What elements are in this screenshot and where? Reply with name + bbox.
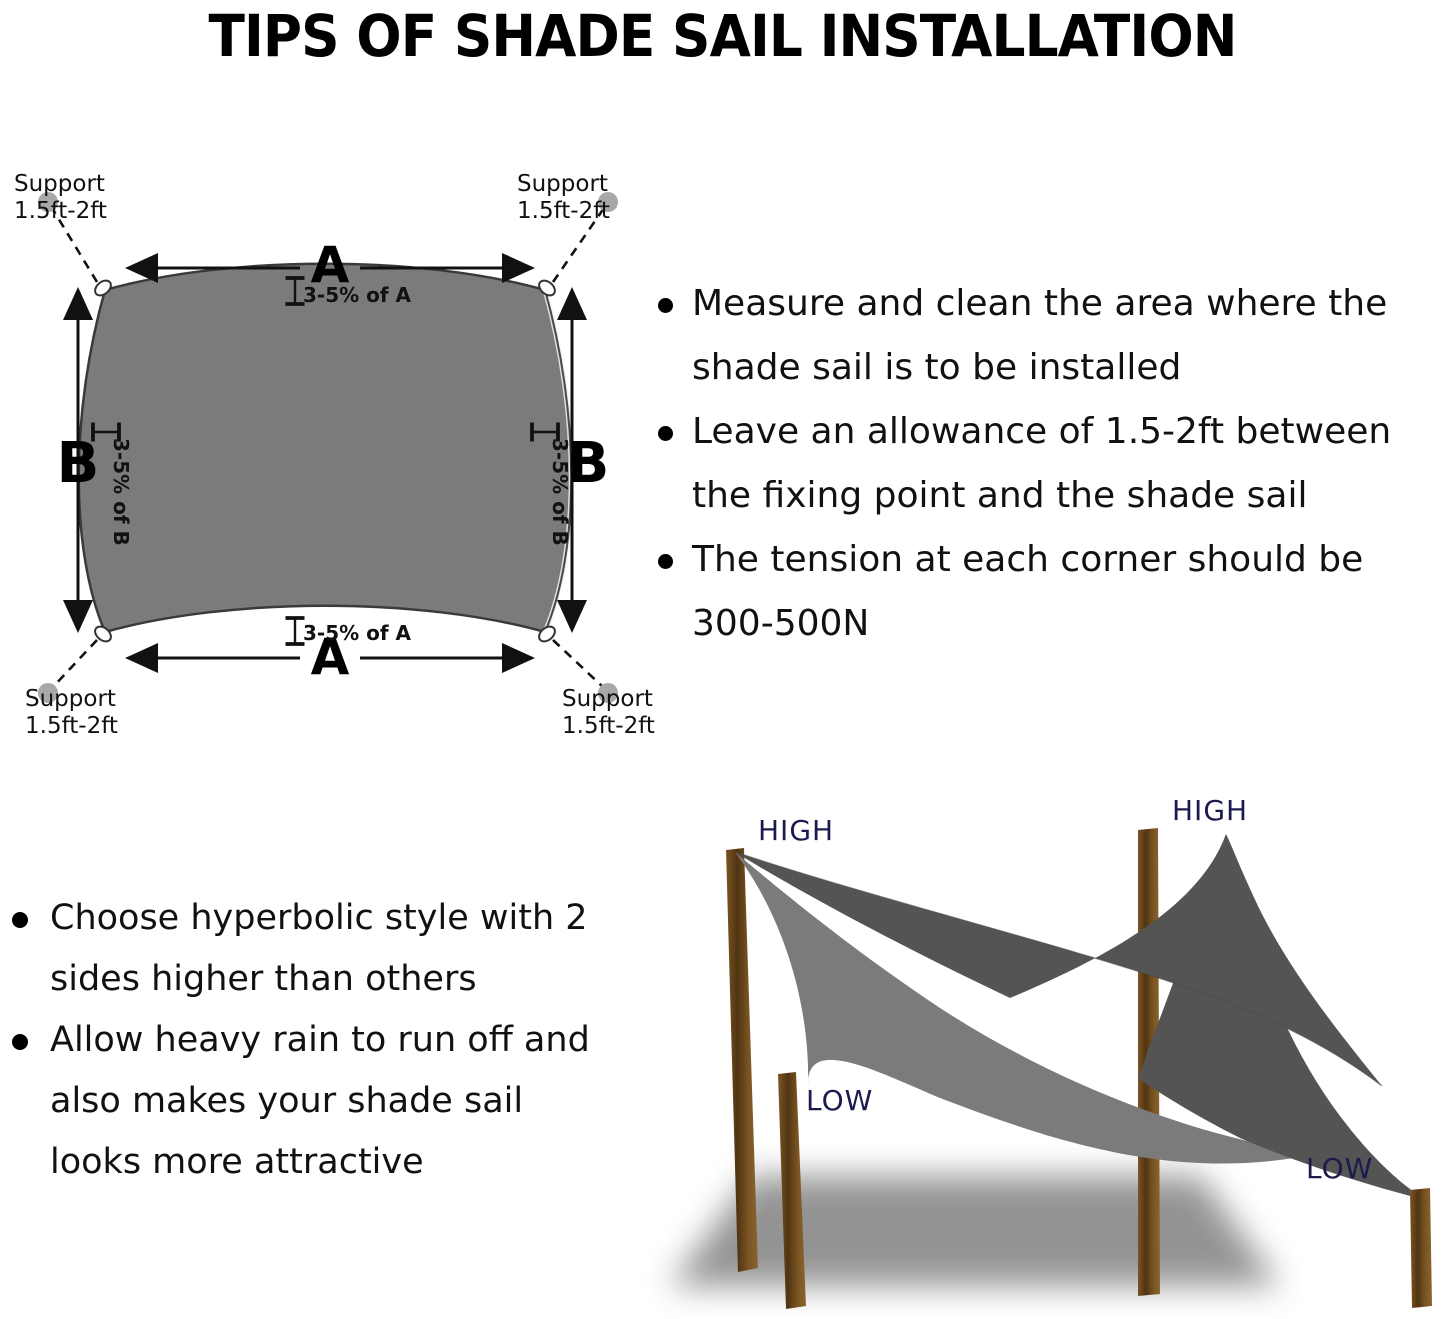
svg-text:3-5% of B: 3-5% of B — [548, 438, 572, 546]
post-front-right — [1410, 1188, 1432, 1308]
hyperbolic-sail-illustration: HIGH HIGH LOW LOW — [640, 786, 1445, 1319]
dimension-b-right: B — [567, 290, 610, 630]
svg-text:3-5% of A: 3-5% of A — [303, 283, 412, 307]
tips-list-left: Choose hyperbolic style with 2 sides hig… — [4, 888, 624, 1193]
svg-text:Support: Support — [562, 686, 653, 712]
support-label-bottom-left: Support 1.5ft-2ft — [25, 686, 118, 739]
sail-shape — [79, 264, 572, 632]
svg-text:Support: Support — [25, 686, 116, 712]
support-label-top-right: Support 1.5ft-2ft — [517, 171, 610, 224]
label-high-left: HIGH — [758, 814, 834, 847]
bullet-icon — [658, 298, 673, 313]
svg-text:B: B — [57, 431, 100, 496]
svg-text:Support: Support — [14, 171, 105, 197]
tip-item: Leave an allowance of 1.5-2ft between th… — [648, 400, 1445, 528]
label-high-right: HIGH — [1172, 794, 1248, 827]
curve-callout-a-top: 3-5% of A — [295, 278, 412, 307]
infographic-page: TIPS OF SHADE SAIL INSTALLATION — [0, 0, 1445, 1319]
tip-text: Choose hyperbolic style with 2 sides hig… — [50, 898, 588, 999]
tip-text: Measure and clean the area where the sha… — [692, 283, 1387, 388]
bullet-icon — [12, 1034, 28, 1050]
tips-left-ul: Choose hyperbolic style with 2 sides hig… — [4, 888, 624, 1193]
tip-item: The tension at each corner should be 300… — [648, 528, 1445, 656]
svg-text:1.5ft-2ft: 1.5ft-2ft — [562, 713, 655, 739]
support-label-top-left: Support 1.5ft-2ft — [14, 171, 107, 224]
svg-text:1.5ft-2ft: 1.5ft-2ft — [14, 198, 107, 224]
sail-surface — [735, 834, 1426, 1200]
curve-callout-a-bottom: 3-5% of A — [295, 618, 412, 645]
bullet-icon — [658, 554, 673, 569]
ground-shadow — [670, 1176, 1280, 1286]
bullet-icon — [658, 426, 673, 441]
bullet-icon — [12, 912, 28, 928]
svg-text:B: B — [567, 431, 610, 496]
tip-item: Choose hyperbolic style with 2 sides hig… — [4, 888, 624, 1010]
rectangular-sail-diagram: Support 1.5ft-2ft Support 1.5ft-2ft Supp… — [0, 160, 660, 740]
page-title: TIPS OF SHADE SAIL INSTALLATION — [58, 2, 1387, 70]
tip-text: Leave an allowance of 1.5-2ft between th… — [692, 411, 1391, 516]
svg-text:3-5% of A: 3-5% of A — [303, 621, 412, 645]
tips-right-ul: Measure and clean the area where the sha… — [648, 272, 1445, 656]
tip-text: The tension at each corner should be 300… — [692, 539, 1363, 644]
tip-item: Measure and clean the area where the sha… — [648, 272, 1445, 400]
tip-text: Allow heavy rain to run off and also mak… — [50, 1020, 590, 1182]
support-label-bottom-right: Support 1.5ft-2ft — [562, 686, 655, 739]
svg-text:1.5ft-2ft: 1.5ft-2ft — [25, 713, 118, 739]
label-low-right: LOW — [1306, 1152, 1373, 1185]
tip-item: Allow heavy rain to run off and also mak… — [4, 1010, 624, 1193]
label-low-left: LOW — [806, 1084, 873, 1117]
svg-text:3-5% of B: 3-5% of B — [109, 438, 133, 546]
svg-text:Support: Support — [517, 171, 608, 197]
tips-list-right: Measure and clean the area where the sha… — [648, 272, 1445, 656]
svg-text:1.5ft-2ft: 1.5ft-2ft — [517, 198, 610, 224]
